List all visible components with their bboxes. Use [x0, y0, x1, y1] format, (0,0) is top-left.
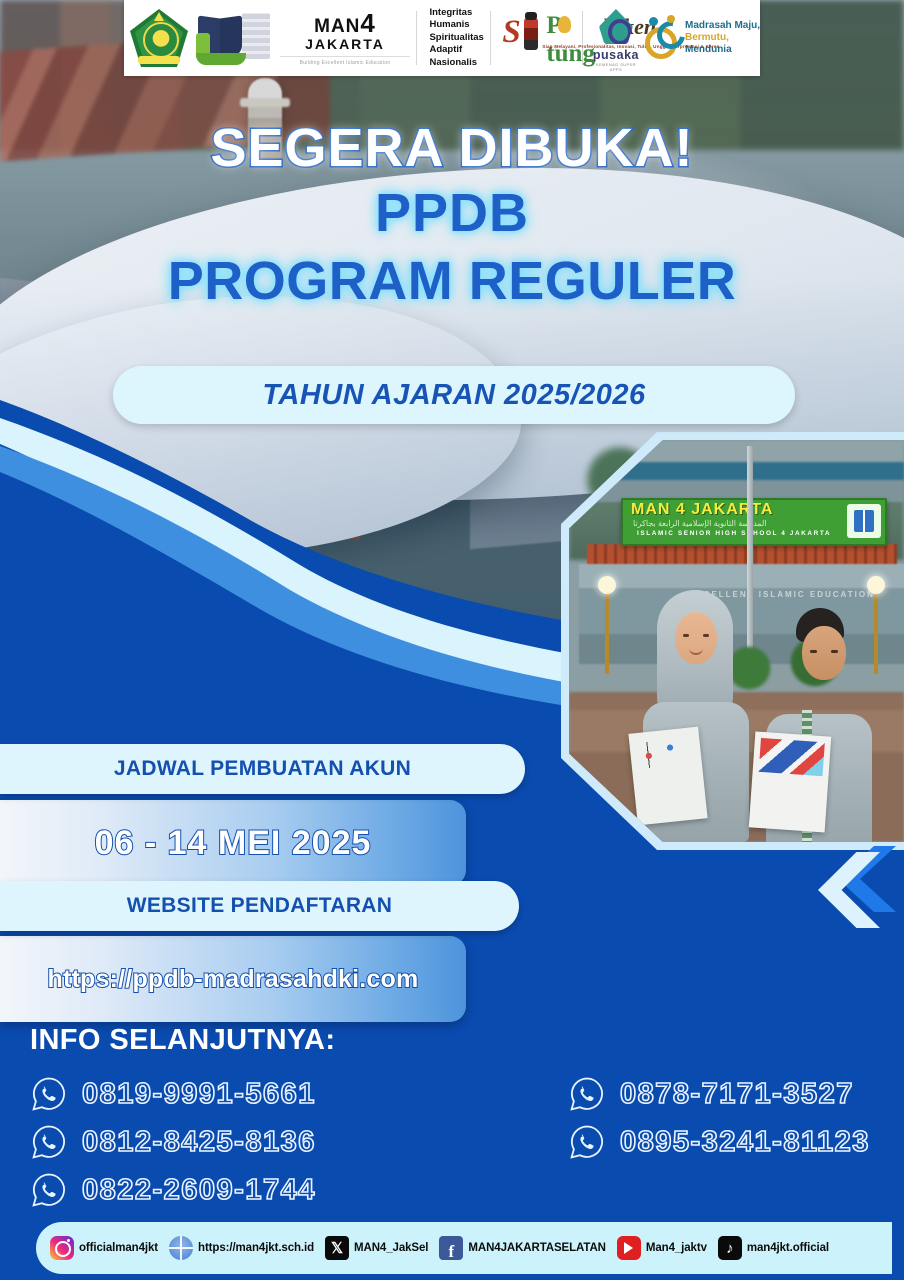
- hexagon-photo-inner: EXCELLENT ISLAMIC EDUCATION MAN 4 JAKART…: [569, 440, 904, 842]
- people-circle-icon: [643, 15, 683, 61]
- phone-row[interactable]: 0812-8425-8136: [30, 1118, 450, 1166]
- social-handle: MAN4_JakSel: [354, 1242, 428, 1254]
- social-handle: officialman4jkt: [79, 1242, 158, 1254]
- student-male: [758, 602, 884, 842]
- si-pitung-beken-logo: S P tung beken Siap Melayani, Profesiona…: [502, 8, 576, 68]
- phone-column-left: 0819-9991-5661 0812-8425-8136 0822-2609-…: [30, 1070, 450, 1214]
- phone-column-right: 0878-7171-3527 0895-3241-81123: [568, 1070, 904, 1166]
- values-list: Integritas Humanis Spiritualitas Adaptif…: [429, 7, 483, 70]
- phone-number: 0819-9991-5661: [82, 1078, 316, 1111]
- jadwal-value: 06 - 14 MEI 2025: [95, 824, 372, 863]
- student-male-book: [749, 731, 832, 832]
- headline-ppdb: PPDB: [0, 185, 904, 242]
- jadwal-value-band: 06 - 14 MEI 2025: [0, 800, 466, 886]
- photo-tile-roof: [587, 544, 897, 566]
- youtube-icon[interactable]: [617, 1236, 641, 1260]
- phone-row[interactable]: 0895-3241-81123: [568, 1118, 904, 1166]
- pusaka-drop-icon: [599, 9, 633, 47]
- social-handle: https://man4jkt.sch.id: [198, 1242, 314, 1254]
- social-item-youtube[interactable]: Man4_jaktv: [617, 1236, 707, 1260]
- website-label: WEBSITE PENDAFTARAN: [127, 894, 392, 918]
- headline-segera-dibuka: SEGERA DIBUKA!: [0, 120, 904, 177]
- phone-number: 0895-3241-81123: [620, 1126, 870, 1159]
- info-title: INFO SELANJUTNYA:: [30, 1024, 335, 1057]
- social-item-x[interactable]: 𝕏 MAN4_JakSel: [325, 1236, 428, 1260]
- phone-number: 0812-8425-8136: [82, 1126, 316, 1159]
- kemenag-logo-cell: [124, 0, 188, 76]
- tiktok-icon[interactable]: ♪: [718, 1236, 742, 1260]
- social-item-tiktok[interactable]: ♪ man4jkt.official: [718, 1236, 829, 1260]
- garden-lamp-left: [605, 590, 609, 674]
- value-humanis: Humanis: [429, 19, 483, 32]
- student-female: [635, 590, 757, 842]
- students-hexagon-photo: EXCELLENT ISLAMIC EDUCATION MAN 4 JAKART…: [561, 432, 904, 850]
- book-building-icon: [196, 9, 270, 67]
- madrasah-line1: Madrasah Maju,: [685, 20, 760, 32]
- jadwal-label: JADWAL PEMBUATAN AKUN: [114, 757, 411, 781]
- man4-wordmark: MAN4 JAKARTA Building Excellent Islamic …: [280, 10, 410, 66]
- man4-line1: MAN: [314, 16, 360, 37]
- tahun-ajaran-pill: TAHUN AJARAN 2025/2026: [113, 366, 795, 424]
- value-integritas: Integritas: [429, 7, 483, 20]
- whatsapp-icon: [30, 1171, 68, 1209]
- tahun-ajaran-text: TAHUN AJARAN 2025/2026: [262, 379, 645, 412]
- pitung-word: P tung: [546, 12, 595, 68]
- phone-number: 0878-7171-3527: [620, 1078, 854, 1111]
- social-handle: MAN4JAKARTASELATAN: [468, 1242, 605, 1254]
- social-footer-bar: officialman4jkt https://man4jkt.sch.id 𝕏…: [36, 1222, 892, 1274]
- social-item-instagram[interactable]: officialman4jkt: [50, 1236, 158, 1260]
- man4-tagline: Building Excellent Islamic Education: [280, 56, 410, 66]
- pitung-pencil-icon: [558, 16, 571, 33]
- sign-book-badge-icon: [847, 504, 881, 538]
- value-spiritualitas: Spiritualitas: [429, 32, 483, 45]
- website-label-pill: WEBSITE PENDAFTARAN: [0, 881, 519, 931]
- whatsapp-icon: [30, 1075, 68, 1113]
- website-url-band[interactable]: https://ppdb-madrasahdki.com: [0, 936, 466, 1022]
- kemenag-icon: [130, 9, 188, 67]
- phone-row[interactable]: 0878-7171-3527: [568, 1070, 904, 1118]
- social-handle: man4jkt.official: [747, 1242, 829, 1254]
- pitung-s: S: [502, 14, 520, 51]
- phone-row[interactable]: 0822-2609-1744: [30, 1166, 450, 1214]
- man4-mark-cell: MAN4 JAKARTA Building Excellent Islamic …: [188, 0, 410, 76]
- madrasah-line2: Bermutu,: [685, 32, 760, 44]
- whatsapp-icon: [30, 1123, 68, 1161]
- ppdb-poster: MAN4 JAKARTA Building Excellent Islamic …: [0, 0, 904, 1280]
- social-item-facebook[interactable]: f MAN4JAKARTASELATAN: [439, 1236, 605, 1260]
- student-female-book: [628, 727, 707, 826]
- madrasah-maju-logo: Madrasah Maju, Bermutu, Mendunia: [643, 15, 760, 61]
- hero-headings: SEGERA DIBUKA! PPDB PROGRAM REGULER: [0, 120, 904, 310]
- phone-row[interactable]: 0819-9991-5661: [30, 1070, 450, 1118]
- facebook-icon[interactable]: f: [439, 1236, 463, 1260]
- value-adaptif: Adaptif: [429, 44, 483, 57]
- social-handle: Man4_jaktv: [646, 1242, 707, 1254]
- pusaka-logo: pusaka KEMENAG SUPER APPS: [593, 7, 639, 69]
- website-url[interactable]: https://ppdb-madrasahdki.com: [48, 965, 419, 994]
- social-item-website[interactable]: https://man4jkt.sch.id: [169, 1236, 314, 1260]
- man4-line2: JAKARTA: [280, 36, 410, 52]
- instagram-icon[interactable]: [50, 1236, 74, 1260]
- school-name-sign: MAN 4 JAKARTA المدرسة الثانوية الإسلامية…: [621, 498, 887, 546]
- headline-program-reguler: PROGRAM REGULER: [0, 253, 904, 310]
- x-twitter-icon[interactable]: 𝕏: [325, 1236, 349, 1260]
- phone-number: 0822-2609-1744: [82, 1174, 316, 1207]
- value-nasionalis: Nasionalis: [429, 57, 483, 70]
- pusaka-sub: KEMENAG SUPER APPS: [593, 62, 639, 72]
- whatsapp-icon: [568, 1075, 606, 1113]
- jadwal-label-pill: JADWAL PEMBUATAN AKUN: [0, 744, 525, 794]
- pitung-figure-icon: [524, 18, 538, 50]
- website-globe-icon[interactable]: [169, 1236, 193, 1260]
- whatsapp-icon: [568, 1123, 606, 1161]
- header-logo-bar: MAN4 JAKARTA Building Excellent Islamic …: [124, 0, 760, 76]
- pusaka-name: pusaka: [593, 48, 639, 62]
- sign-subtitle: ISLAMIC SENIOR HIGH SCHOOL 4 JAKARTA: [637, 530, 831, 537]
- man4-number: 4: [360, 8, 375, 38]
